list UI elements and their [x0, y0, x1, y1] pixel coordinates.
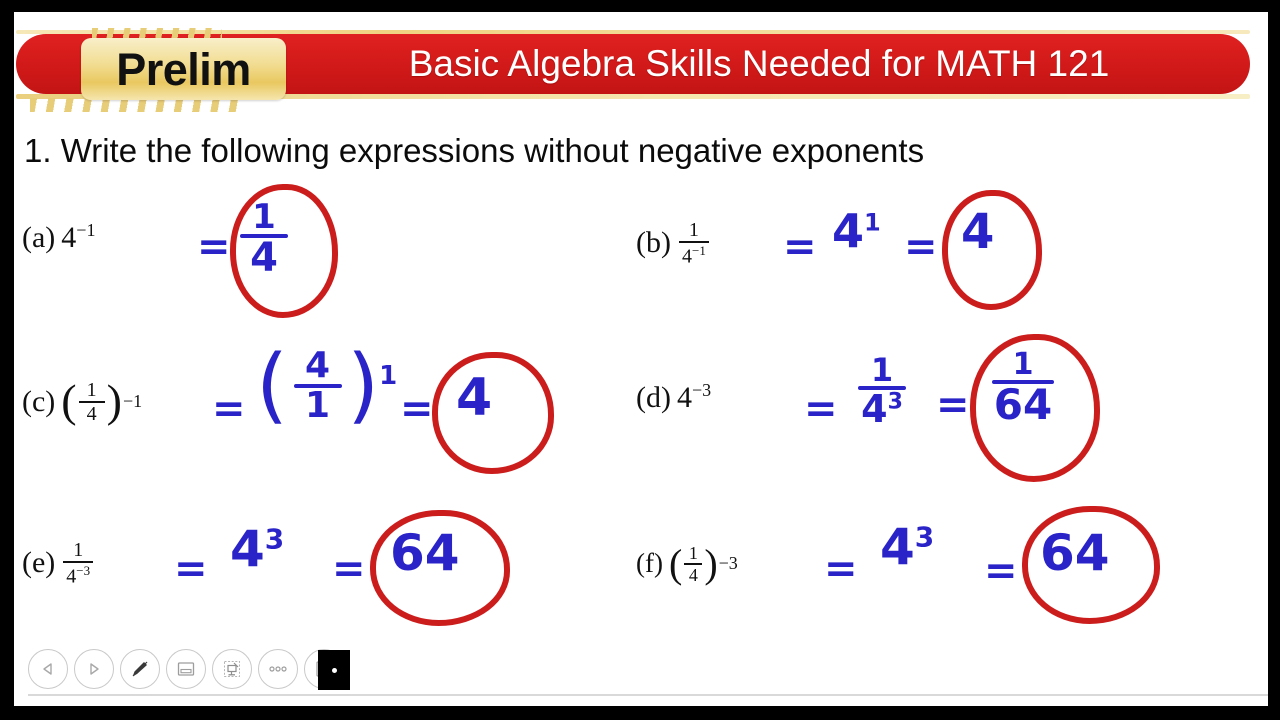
- cursor-overlay: [318, 650, 350, 690]
- problem-d-step: 1 43: [858, 354, 906, 428]
- problem-c-fraction: 1 4: [79, 380, 105, 424]
- problem-f-expression: ( 1 4 ) −3: [669, 544, 738, 584]
- toolbar-divider: [28, 694, 1268, 696]
- problem-a-expression: 4−1: [61, 220, 95, 255]
- previous-slide-button[interactable]: [28, 649, 68, 689]
- problem-c-printed: (c) ( 1 4 ) −1: [22, 380, 142, 424]
- problem-e-printed: (e) 1 4−3: [22, 540, 95, 586]
- magnify-region-icon: [222, 659, 242, 679]
- problem-a: (a) 4−1 = 1 4: [22, 182, 642, 342]
- problem-a-answer-circle: [230, 184, 338, 318]
- problem-d-equals-2: =: [936, 382, 970, 428]
- problem-b: (b) 1 4−1 = 41 = 4: [636, 182, 1266, 342]
- cursor-dot-icon: [332, 668, 337, 673]
- slide-canvas: Prelim Basic Algebra Skills Needed for M…: [14, 12, 1268, 706]
- more-options-button[interactable]: [258, 649, 298, 689]
- triangle-left-icon: [40, 661, 56, 677]
- problem-e-label: (e): [22, 546, 55, 580]
- problem-b-printed: (b) 1 4−1: [636, 220, 711, 266]
- presentation-toolbar: [14, 646, 1268, 692]
- problem-c-step-exponent: 1: [379, 361, 397, 391]
- problem-c-step-fraction: 4 1: [294, 348, 342, 424]
- problem-d-step-fraction: 1 43: [858, 354, 906, 428]
- problem-f-numerator: 1: [686, 544, 701, 563]
- problem-f-denominator: 4: [686, 565, 701, 584]
- problem-f-equals-1: =: [824, 546, 858, 592]
- problem-b-answer-circle: [942, 190, 1042, 310]
- left-paren-icon: (: [669, 548, 682, 580]
- problem-d-label: (d): [636, 381, 671, 415]
- problem-f-fraction: 1 4: [684, 544, 702, 584]
- slide-icon: [176, 660, 196, 678]
- problem-b-numerator: 1: [686, 220, 702, 241]
- problem-f-step: 43: [880, 518, 934, 576]
- problem-e-step: 43: [230, 520, 284, 578]
- problem-b-denominator: 4−1: [679, 243, 709, 267]
- problem-b-equals-1: =: [783, 224, 817, 270]
- problem-c-equals-1: =: [212, 386, 246, 432]
- problem-a-printed: (a) 4−1: [22, 220, 95, 255]
- problem-a-label: (a): [22, 221, 55, 255]
- problem-e-answer-circle: [370, 510, 510, 626]
- problem-c-answer-circle: [432, 352, 554, 474]
- problem-c: (c) ( 1 4 ) −1 = (: [22, 342, 642, 502]
- problem-a-equals: =: [197, 224, 231, 270]
- next-slide-button[interactable]: [74, 649, 114, 689]
- problem-row-2: (c) ( 1 4 ) −1 = (: [14, 342, 1268, 502]
- problem-c-denominator: 4: [84, 403, 100, 424]
- problem-e-numerator: 1: [70, 540, 86, 561]
- problem-f-printed: (f) ( 1 4 ) −3: [636, 544, 738, 584]
- problem-f: (f) ( 1 4 ) −3 = 43 = 64: [636, 502, 1266, 662]
- problem-d: (d) 4−3 = 1 43 = 1 64: [636, 342, 1266, 502]
- right-paren-icon: ): [107, 383, 122, 420]
- prelim-tab: Prelim: [81, 38, 286, 100]
- problem-c-numerator: 1: [84, 380, 100, 401]
- question-prompt: 1. Write the following expressions witho…: [24, 132, 1174, 170]
- problem-e-equals-2: =: [332, 546, 366, 592]
- problem-b-label: (b): [636, 226, 671, 260]
- problem-f-label: (f): [636, 548, 663, 579]
- pen-tool-button[interactable]: [120, 649, 160, 689]
- problem-c-step-denominator: 1: [305, 388, 330, 424]
- problem-d-expression: 4−3: [677, 380, 711, 415]
- problem-d-equals-1: =: [804, 386, 838, 432]
- right-paren-icon: ): [347, 355, 379, 417]
- problem-c-expression: ( 1 4 ) −1: [61, 380, 142, 424]
- problem-d-step-denominator: 43: [861, 390, 903, 428]
- problem-d-printed: (d) 4−3: [636, 380, 711, 415]
- problem-c-step-numerator: 4: [305, 348, 330, 384]
- problem-f-exponent: −3: [719, 553, 738, 574]
- ellipsis-icon: [267, 665, 289, 673]
- problem-d-answer-circle: [970, 334, 1100, 482]
- problem-c-label: (c): [22, 385, 55, 419]
- pen-icon: [130, 659, 150, 679]
- problem-b-step: 41: [832, 204, 881, 258]
- left-paren-icon: (: [256, 355, 288, 417]
- problem-b-equals-2: =: [904, 224, 938, 270]
- triangle-right-icon: [86, 661, 102, 677]
- problem-e: (e) 1 4−3 = 43 = 64: [22, 502, 642, 662]
- problem-row-3: (e) 1 4−3 = 43 = 64 (f) (: [14, 502, 1268, 662]
- page-title: Basic Algebra Skills Needed for MATH 121: [314, 34, 1204, 94]
- problem-c-equals-2: =: [400, 386, 434, 432]
- problem-c-exponent: −1: [123, 391, 142, 412]
- left-paren-icon: (: [61, 383, 76, 420]
- presentation-screen: Prelim Basic Algebra Skills Needed for M…: [0, 0, 1280, 720]
- banner-tick-decoration: [30, 98, 240, 112]
- problem-e-equals-1: =: [174, 546, 208, 592]
- prelim-tab-label: Prelim: [116, 47, 251, 92]
- problem-e-expression: 1 4−3: [63, 540, 93, 586]
- problem-f-answer-circle: [1022, 506, 1160, 624]
- problem-c-step: ( 4 1 )1: [256, 348, 397, 424]
- right-paren-icon: ): [704, 548, 717, 580]
- problem-d-step-numerator: 1: [871, 354, 893, 386]
- zoom-region-button[interactable]: [212, 649, 252, 689]
- slide-view-button[interactable]: [166, 649, 206, 689]
- problem-e-denominator: 4−3: [63, 563, 93, 587]
- problem-f-equals-2: =: [984, 548, 1018, 594]
- problem-b-expression: 1 4−1: [679, 220, 709, 266]
- problem-row-1: (a) 4−1 = 1 4 (b) 1: [14, 182, 1268, 342]
